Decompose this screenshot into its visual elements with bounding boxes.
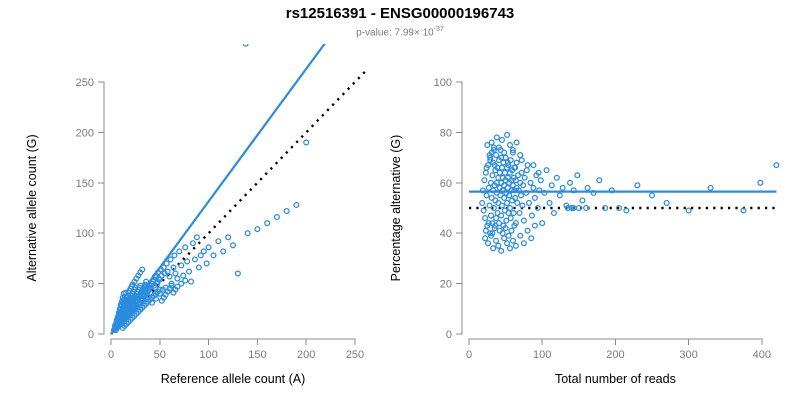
data-point [189,279,194,284]
x-axis: 050100150200250Reference allele count (A… [108,339,364,386]
data-point [505,133,510,138]
data-point [193,257,198,262]
data-point [505,201,510,206]
data-point [560,185,565,190]
data-point [514,140,519,145]
panel-percentage-vs-reads: 0100200300400Total number of reads020406… [389,77,779,386]
data-point [181,273,186,278]
data-point [519,158,524,163]
data-point [508,206,513,211]
series-samples [112,41,309,332]
data-point [204,261,209,266]
data-point [530,213,535,218]
data-point [511,211,516,216]
data-point [519,170,524,175]
data-point [243,41,248,46]
y-axis-title: Alternative allele count (G) [25,134,39,281]
y-tick-label: 0 [446,329,452,341]
data-point [502,150,507,155]
data-point [191,241,196,246]
data-point [522,218,527,223]
data-point [183,245,188,250]
data-point [494,238,499,243]
data-point [547,201,552,206]
data-point [506,211,511,216]
data-point [524,168,529,173]
data-point [179,263,184,268]
data-point [650,193,655,198]
data-point [519,193,524,198]
data-point [194,235,199,240]
data-point [529,236,534,241]
data-point [231,243,236,248]
data-point [486,241,491,246]
data-point [483,236,488,241]
y-axis-line [98,82,104,334]
data-point [508,246,513,251]
data-point [294,203,299,208]
data-point [544,168,549,173]
data-point [484,193,489,198]
y-tick-label: 200 [76,127,94,139]
data-point [532,223,537,228]
x-tick-label: 200 [606,349,624,361]
data-point [518,153,523,158]
p-value-exponent: -37 [434,26,444,33]
data-point [226,235,231,240]
x-tick-label: 100 [199,349,217,361]
data-point [168,257,173,262]
data-point [580,198,585,203]
data-point [265,221,270,226]
data-point [554,175,559,180]
data-point [491,246,496,251]
data-point [531,185,536,190]
x-axis-line [111,339,355,345]
x-tick-label: 100 [533,349,551,361]
p-value-text: p-value: 7.99× 10 [356,27,434,38]
data-point [483,228,488,233]
data-point [201,249,206,254]
data-point [185,259,190,264]
y-axis: 020406080100Percentage alternative (G) [389,77,462,341]
data-point [502,196,507,201]
y-tick-label: 150 [76,178,94,190]
x-tick-label: 250 [346,349,364,361]
data-point [206,245,211,250]
data-point [483,216,488,221]
data-point [245,231,250,236]
data-point [173,271,178,276]
data-point [575,173,580,178]
data-point [211,253,216,258]
data-point [549,183,554,188]
data-point [505,241,510,246]
p-value-subtitle: p-value: 7.99× 10-37 [0,26,800,38]
data-point [522,241,527,246]
data-point [499,248,504,253]
data-point [304,140,309,145]
data-point [508,143,513,148]
data-point [187,269,192,274]
data-point [508,216,513,221]
y-tick-label: 80 [440,127,452,139]
data-point [525,163,530,168]
data-point [500,203,505,208]
data-point [284,209,289,214]
data-point [489,213,494,218]
x-tick-label: 50 [154,349,166,361]
data-point [490,173,495,178]
data-point [518,233,523,238]
x-axis: 0100200300400Total number of reads [466,339,771,386]
data-point [172,253,177,258]
data-point [482,178,487,183]
data-point [494,216,499,221]
data-point [664,201,669,206]
x-tick-label: 300 [679,349,697,361]
data-point [500,138,505,143]
y-tick-label: 50 [82,279,94,291]
data-point [255,227,260,232]
y-axis-title: Percentage alternative (G) [389,135,403,282]
data-point [538,178,543,183]
x-tick-label: 400 [753,349,771,361]
x-tick-label: 0 [466,349,472,361]
plot-canvas: 050100150200250Reference allele count (A… [0,0,800,400]
data-point [177,249,182,254]
data-point [527,201,532,206]
data-point [509,228,514,233]
data-point [515,201,520,206]
data-point [597,178,602,183]
data-point [557,193,562,198]
panel-right-data-layer [469,133,779,254]
data-point [708,185,713,190]
data-point [568,180,573,185]
data-point [480,201,485,206]
y-axis-line [456,82,462,334]
data-point [686,208,691,213]
data-point [506,233,511,238]
data-point [497,170,502,175]
data-point [499,213,504,218]
data-point [496,243,501,248]
y-tick-label: 100 [434,77,452,89]
data-point [502,170,507,175]
y-tick-label: 20 [440,279,452,291]
page-title: rs12516391 - ENSG00000196743 [0,5,800,22]
data-point [774,163,779,168]
data-point [758,180,763,185]
data-point [585,185,590,190]
x-tick-label: 200 [297,349,315,361]
data-point [494,135,499,140]
data-point [183,278,188,283]
data-point [552,211,557,216]
data-point [522,175,527,180]
data-point [235,271,240,276]
data-point [513,243,518,248]
data-point [514,160,519,165]
x-tick-label: 0 [108,349,114,361]
x-tick-label: 150 [248,349,266,361]
data-point [483,170,488,175]
data-point [275,215,280,220]
x-axis-title: Total number of reads [555,372,676,386]
data-point [175,276,180,281]
y-tick-label: 60 [440,178,452,190]
data-point [494,153,499,158]
series-samples [480,133,779,254]
data-point [511,238,516,243]
panel-reference-vs-alternative: 050100150200250Reference allele count (A… [25,40,365,386]
data-point [221,249,226,254]
data-point [196,265,201,270]
data-point [517,211,522,216]
data-point [525,228,530,233]
y-tick-label: 40 [440,228,452,240]
y-tick-label: 0 [88,329,94,341]
data-point [489,140,494,145]
data-point [540,221,545,226]
panel-left-data-layer [111,40,365,334]
fit-line [111,40,328,334]
figure-container: rs12516391 - ENSG00000196743 p-value: 7.… [0,0,800,400]
y-tick-label: 250 [76,77,94,89]
x-axis-title: Reference allele count (A) [161,372,306,386]
data-point [532,196,537,201]
data-point [528,180,533,185]
data-point [216,239,221,244]
data-point [531,163,536,168]
y-axis: 050100150200250Alternative allele count … [25,77,104,341]
data-point [481,208,486,213]
data-point [635,183,640,188]
y-tick-label: 100 [76,228,94,240]
